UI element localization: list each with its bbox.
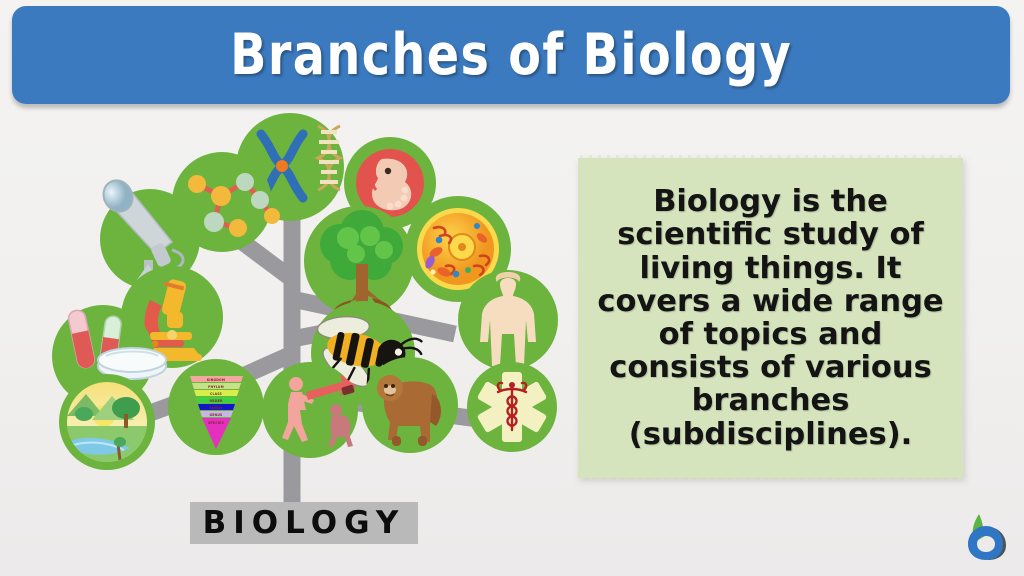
taxonomy-label-genus: GENUS <box>210 413 223 417</box>
taxonomy-level-class: CLASS <box>194 390 239 396</box>
node-circle-evolution <box>262 362 358 458</box>
node-medicine[interactable] <box>467 362 557 452</box>
taxonomy-level-kingdom: KINGDOM <box>190 376 243 382</box>
description-text: Biology is the scientific study of livin… <box>578 185 963 451</box>
node-anatomy[interactable] <box>458 270 558 370</box>
taxonomy-label-class: CLASS <box>210 392 222 396</box>
description-panel: Biology is the scientific study of livin… <box>578 158 963 478</box>
taxonomy-label-kingdom: KINGDOM <box>207 378 225 382</box>
node-botany[interactable] <box>304 206 414 316</box>
node-taxonomy[interactable]: KINGDOM PHYLUM CLASS ORDER <box>168 359 264 455</box>
biology-online-b-logo-icon <box>963 512 1009 562</box>
taxonomy-level-genus: GENUS <box>200 411 233 417</box>
taxonomy-label-family: FAMILY <box>209 406 223 410</box>
node-evolution[interactable] <box>262 362 358 458</box>
taxonomy-level-family: FAMILY <box>198 404 235 410</box>
node-ecology[interactable] <box>59 374 155 470</box>
taxonomy-label-phylum: PHYLUM <box>208 385 224 389</box>
branches-tree-diagram: KINGDOM PHYLUM CLASS ORDER <box>0 104 575 576</box>
root-label-biology: BIOLOGY <box>190 502 418 544</box>
taxonomy-level-order: ORDER <box>196 397 237 403</box>
taxonomy-label-species: SPECIES <box>208 421 224 425</box>
title-banner: Branches of Biology <box>12 6 1010 104</box>
landscape-ecology-icon <box>67 382 147 462</box>
taxonomy-label-order: ORDER <box>209 399 222 403</box>
site-logo[interactable] <box>963 512 1009 562</box>
node-primatology[interactable] <box>362 357 458 453</box>
root-label-text: BIOLOGY <box>203 505 406 541</box>
taxonomy-level-phylum: PHYLUM <box>192 383 241 389</box>
infographic-canvas: Branches of Biology <box>0 0 1024 576</box>
page-title: Branches of Biology <box>230 22 792 88</box>
